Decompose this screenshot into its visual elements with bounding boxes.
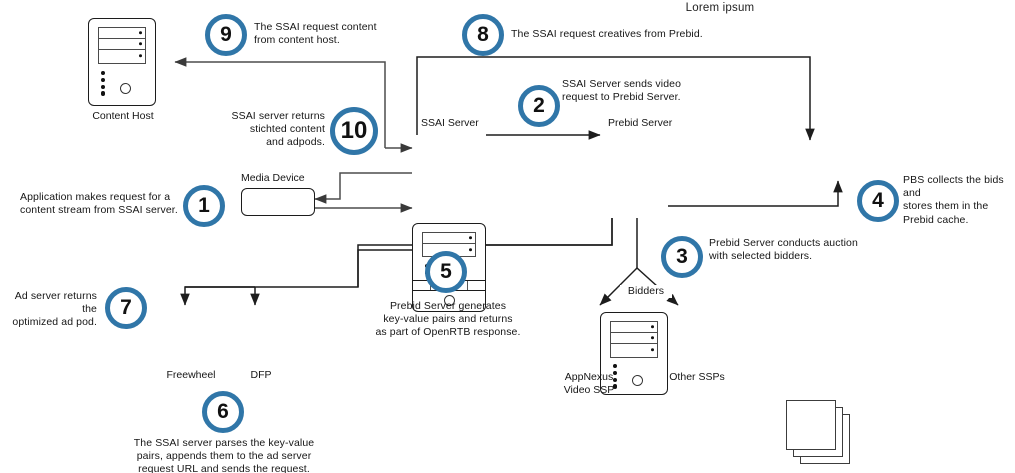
- step-badge-4: 4: [857, 180, 899, 222]
- step-badge-1: 1: [183, 185, 225, 227]
- step-3-line1: Prebid Server conducts auction: [709, 237, 909, 250]
- step-badge-8: 8: [462, 14, 504, 56]
- wire-ssai-to-freewheel: [185, 224, 424, 305]
- step-1-line2: content stream from SSAI server.: [20, 204, 180, 217]
- power-button-icon: [632, 375, 643, 386]
- step-10-line2: stichted content: [200, 123, 325, 136]
- media-device-icon: [241, 188, 315, 216]
- power-button-icon: [120, 83, 131, 94]
- step-text-9: The SSAI request content from content ho…: [254, 21, 454, 47]
- step-text-3: Prebid Server conducts auction with sele…: [709, 237, 909, 263]
- step-badge-5: 5: [425, 251, 467, 293]
- step-4-line1: PBS collects the bids and: [903, 174, 1015, 200]
- step-2-line2: request to Prebid Server.: [562, 91, 742, 104]
- step-text-2: SSAI Server sends video request to Prebi…: [562, 78, 742, 104]
- status-dots: [101, 71, 105, 96]
- step-5-line3: as part of OpenRTB response.: [370, 326, 526, 339]
- step-text-7: Ad server returns the optimized ad pod.: [0, 290, 97, 330]
- step-9-line1: The SSAI request content: [254, 21, 454, 34]
- step-badge-2: 2: [518, 85, 560, 127]
- step-badge-9: 9: [205, 14, 247, 56]
- appnexus-label: AppNexus Video SSP: [545, 371, 633, 396]
- media-device-label: Media Device: [241, 172, 341, 184]
- step-2-line1: SSAI Server sends video: [562, 78, 742, 91]
- step-6-line2: pairs, appends them to the ad server: [128, 450, 320, 463]
- step-4-line2: stores them in the: [903, 200, 1015, 213]
- step-6-line1: The SSAI server parses the key-value: [128, 437, 320, 450]
- dfp-label: DFP: [228, 369, 294, 382]
- step-badge-6: 6: [202, 391, 244, 433]
- step-10-line3: and adpods.: [200, 136, 325, 149]
- step-5-line2: key-value pairs and returns: [370, 313, 526, 326]
- step-text-5: Prebid Server generates key-value pairs …: [370, 300, 526, 340]
- step-7-line1: Ad server returns the: [0, 290, 97, 316]
- ssai-server-label: SSAI Server: [421, 117, 511, 129]
- step-badge-10: 10: [330, 107, 378, 155]
- prebid-cache-icon: [786, 400, 866, 462]
- wire-prebid-to-cache: [668, 181, 838, 206]
- step-5-line1: Prebid Server generates: [370, 300, 526, 313]
- step-8-line1: The SSAI request creatives from Prebid.: [511, 28, 791, 41]
- freewheel-label: Freewheel: [150, 369, 232, 382]
- step-9-line2: from content host.: [254, 34, 454, 47]
- step-10-line1: SSAI server returns: [200, 110, 325, 123]
- page-title: Lorem ipsum: [660, 2, 780, 14]
- bidders-edge-label: Bidders: [620, 285, 672, 298]
- step-4-line3: Prebid cache.: [903, 214, 1015, 227]
- content-host-label: Content Host: [78, 110, 168, 123]
- step-text-10: SSAI server returns stichted content and…: [200, 110, 325, 150]
- step-text-1: Application makes request for a content …: [20, 191, 180, 217]
- step-7-line2: optimized ad pod.: [0, 316, 97, 329]
- step-text-8: The SSAI request creatives from Prebid.: [511, 28, 791, 41]
- content-host-icon: [88, 18, 156, 106]
- other-ssps-label: Other SSPs: [658, 371, 736, 384]
- cache-page-front: [786, 400, 836, 450]
- step-badge-3: 3: [661, 236, 703, 278]
- appnexus-label-line2: Video SSP: [545, 384, 633, 397]
- step-1-line1: Application makes request for a: [20, 191, 180, 204]
- diagram-canvas: Lorem ipsum Content Host Media Device SS…: [0, 0, 1015, 473]
- prebid-server-label: Prebid Server: [608, 117, 703, 129]
- step-3-line2: with selected bidders.: [709, 250, 909, 263]
- step-text-6: The SSAI server parses the key-value pai…: [128, 437, 320, 473]
- step-6-line3: request URL and sends the request.: [128, 463, 320, 473]
- step-badge-7: 7: [105, 287, 147, 329]
- step-text-4: PBS collects the bids and stores them in…: [903, 174, 1015, 227]
- appnexus-label-line1: AppNexus: [545, 371, 633, 384]
